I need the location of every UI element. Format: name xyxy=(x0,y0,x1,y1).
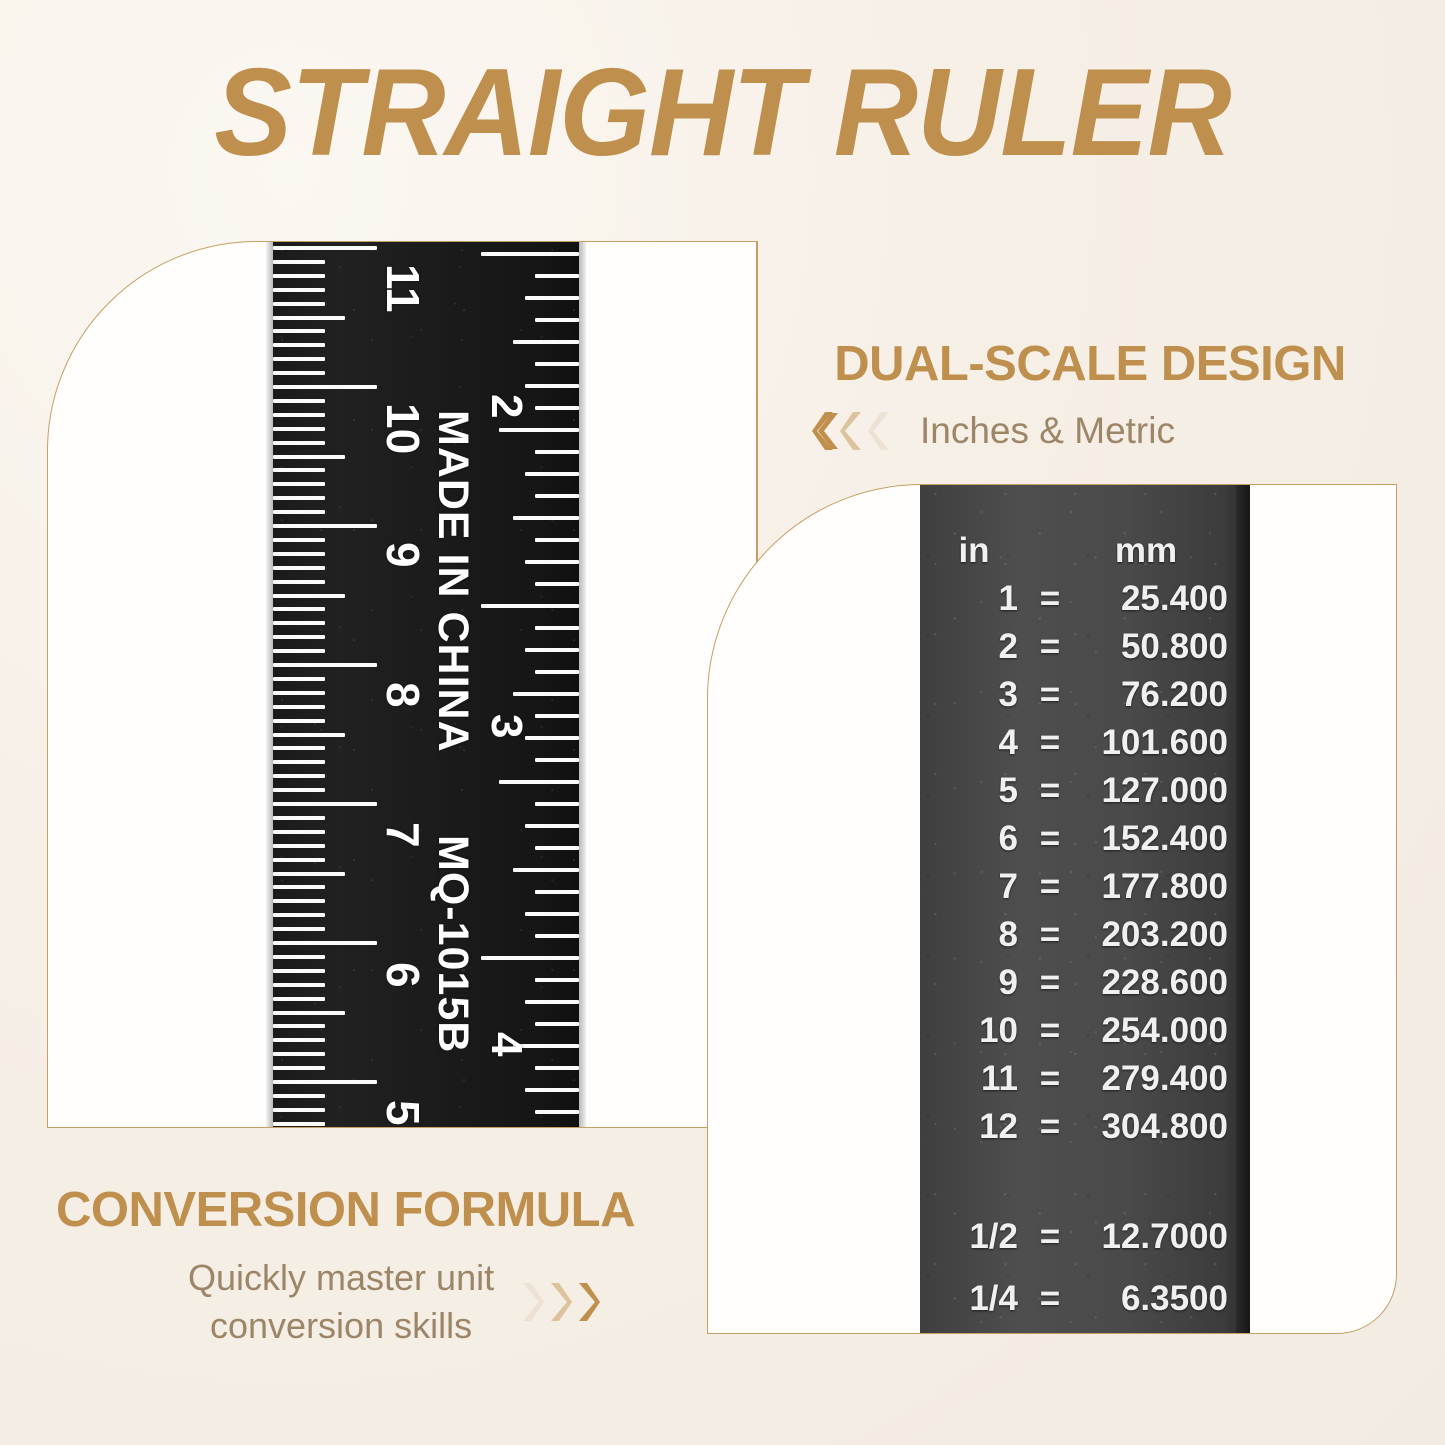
table-row: 9=228.600 xyxy=(920,965,1250,1013)
metric-tick xyxy=(273,913,325,917)
table-row: 2=50.800 xyxy=(920,629,1250,677)
metric-tick xyxy=(273,774,325,778)
metric-tick xyxy=(273,580,325,584)
chevron-left-icon xyxy=(812,410,838,452)
inch-tick xyxy=(535,1110,579,1114)
metric-tick xyxy=(273,969,325,973)
metric-tick xyxy=(273,329,325,333)
table-row: 1/2=12.7000 xyxy=(920,1219,1250,1281)
feature-conversion-formula: CONVERSION FORMULA Quickly master unit c… xyxy=(56,1182,716,1349)
metric-tick xyxy=(273,1108,325,1112)
inch-tick xyxy=(525,472,579,476)
cell-inches: 1/4 xyxy=(920,1281,1028,1316)
metric-tick xyxy=(273,607,325,611)
metric-tick xyxy=(273,343,325,347)
cell-inches: 4 xyxy=(920,725,1028,760)
ruler-origin-text: MADE IN CHINA xyxy=(431,410,474,753)
inch-tick xyxy=(535,846,579,850)
metric-number-7: 7 xyxy=(380,822,426,848)
page-title: STRAIGHT RULER xyxy=(43,48,1401,178)
inch-tick xyxy=(535,714,579,718)
grey-ruler-panel: inmm1=25.4002=50.8003=76.2004=101.6005=1… xyxy=(920,485,1250,1334)
cell-equals: = xyxy=(1028,1219,1072,1254)
feature-dual-scale: DUAL-SCALE DESIGN Inches & Metric xyxy=(790,336,1390,452)
cell-equals: = xyxy=(1028,917,1072,952)
chevron-right-icon xyxy=(574,1281,600,1323)
metric-tick xyxy=(273,677,325,681)
cell-inches: 1 xyxy=(920,581,1028,616)
inch-tick xyxy=(535,406,579,410)
metric-tick xyxy=(273,927,325,931)
metric-number-6: 6 xyxy=(380,962,426,988)
table-section-gap xyxy=(920,1157,1250,1219)
inch-tick xyxy=(513,340,579,344)
inch-number-3: 3 xyxy=(484,714,528,738)
metric-number-11: 11 xyxy=(380,264,426,313)
cell-inches: 3 xyxy=(920,677,1028,712)
cell-millimeters: 101.600 xyxy=(1072,725,1242,760)
metric-tick xyxy=(273,885,325,889)
cell-equals: = xyxy=(1028,725,1072,760)
inch-tick xyxy=(499,428,579,432)
metric-tick xyxy=(273,413,325,417)
inch-tick xyxy=(535,934,579,938)
metric-tick xyxy=(273,594,345,598)
metric-tick xyxy=(273,524,377,528)
metric-tick xyxy=(273,427,325,431)
metric-tick xyxy=(273,705,325,709)
metric-number-5: 5 xyxy=(380,1100,426,1126)
inch-tick xyxy=(535,450,579,454)
inch-number-2: 2 xyxy=(484,394,528,418)
chevron-left-group xyxy=(812,410,894,452)
metric-tick xyxy=(273,246,377,250)
inch-tick xyxy=(513,516,579,520)
metric-tick xyxy=(273,566,325,570)
chevron-left-icon xyxy=(868,410,894,452)
inch-tick xyxy=(525,1000,579,1004)
cell-inches: 10 xyxy=(920,1013,1028,1048)
metric-tick xyxy=(273,552,325,556)
metric-tick xyxy=(273,983,325,987)
cell-millimeters: 76.200 xyxy=(1072,677,1242,712)
inch-tick xyxy=(535,670,579,674)
table-row: 10=254.000 xyxy=(920,1013,1250,1061)
metric-tick xyxy=(273,844,325,848)
table-row: 3=76.200 xyxy=(920,677,1250,725)
dual-scale-subtext: Inches & Metric xyxy=(920,410,1175,452)
table-row: 5=127.000 xyxy=(920,773,1250,821)
metric-tick xyxy=(273,482,325,486)
cell-equals: = xyxy=(1028,965,1072,1000)
metric-tick xyxy=(273,649,325,653)
metric-tick xyxy=(273,663,377,667)
metric-tick xyxy=(273,441,325,445)
metric-tick xyxy=(273,746,325,750)
inch-tick xyxy=(513,692,579,696)
cell-millimeters: mm xyxy=(1072,533,1242,568)
cell-equals: = xyxy=(1028,581,1072,616)
inch-tick xyxy=(535,274,579,278)
inch-tick xyxy=(525,824,579,828)
metric-tick xyxy=(273,719,325,723)
chevron-right-group xyxy=(518,1281,600,1323)
table-row: 8=203.200 xyxy=(920,917,1250,965)
metric-tick xyxy=(273,496,325,500)
chevron-left-icon xyxy=(840,410,866,452)
cell-millimeters: 25.400 xyxy=(1072,581,1242,616)
cell-millimeters: 177.800 xyxy=(1072,869,1242,904)
cell-inches: 1/2 xyxy=(920,1219,1028,1254)
chevron-right-icon xyxy=(518,1281,544,1323)
inch-tick xyxy=(535,1022,579,1026)
inch-tick xyxy=(525,1088,579,1092)
cell-millimeters: 6.3500 xyxy=(1072,1281,1242,1316)
inch-tick xyxy=(535,978,579,982)
cell-equals: = xyxy=(1028,1109,1072,1144)
metric-tick xyxy=(273,274,325,278)
inch-tick xyxy=(535,802,579,806)
inch-tick xyxy=(535,318,579,322)
cell-inches: 5 xyxy=(920,773,1028,808)
cell-millimeters: 203.200 xyxy=(1072,917,1242,952)
inch-tick xyxy=(535,362,579,366)
metric-tick xyxy=(273,302,325,306)
cell-inches: 12 xyxy=(920,1109,1028,1144)
inch-tick-scale xyxy=(469,242,579,1128)
metric-tick xyxy=(273,733,345,737)
metric-tick xyxy=(273,802,377,806)
conversion-heading: CONVERSION FORMULA xyxy=(56,1182,716,1238)
table-row: 6=152.400 xyxy=(920,821,1250,869)
cell-equals: = xyxy=(1028,1061,1072,1096)
black-ruler-strip: 11 10 9 8 7 6 5 2 3 4 MADE IN CHINA MQ-1… xyxy=(266,242,586,1128)
metric-tick xyxy=(273,955,325,959)
cell-equals: = xyxy=(1028,629,1072,664)
conversion-subtext: Quickly master unit conversion skills xyxy=(188,1254,494,1349)
metric-tick xyxy=(273,385,377,389)
metric-tick xyxy=(273,1052,325,1056)
inch-tick xyxy=(513,868,579,872)
cell-millimeters: 304.800 xyxy=(1072,1109,1242,1144)
metric-tick xyxy=(273,538,325,542)
black-ruler-card: 11 10 9 8 7 6 5 2 3 4 MADE IN CHINA MQ-1… xyxy=(47,241,757,1128)
metric-tick xyxy=(273,816,325,820)
cell-equals: = xyxy=(1028,773,1072,808)
metric-tick xyxy=(273,1011,345,1015)
conversion-subtext-line1: Quickly master unit xyxy=(188,1254,494,1302)
metric-tick xyxy=(273,788,325,792)
metric-tick xyxy=(273,1024,325,1028)
table-row: 1=25.400 xyxy=(920,581,1250,629)
metric-tick xyxy=(273,357,325,361)
table-row: 12=304.800 xyxy=(920,1109,1250,1157)
metric-tick xyxy=(273,316,345,320)
cell-inches: 7 xyxy=(920,869,1028,904)
cell-millimeters: 279.400 xyxy=(1072,1061,1242,1096)
metric-tick xyxy=(273,1122,325,1126)
inch-tick xyxy=(481,252,579,256)
inch-tick xyxy=(535,626,579,630)
cell-millimeters: 228.600 xyxy=(1072,965,1242,1000)
cell-inches: 11 xyxy=(920,1061,1028,1096)
inch-tick xyxy=(525,296,579,300)
conversion-table-card: inmm1=25.4002=50.8003=76.2004=101.6005=1… xyxy=(707,484,1397,1334)
cell-equals: = xyxy=(1028,677,1072,712)
inch-tick xyxy=(481,956,579,960)
cell-inches: 9 xyxy=(920,965,1028,1000)
metric-tick xyxy=(273,288,325,292)
cell-inches: in xyxy=(920,533,1028,568)
conversion-subtext-line2: conversion skills xyxy=(188,1302,494,1350)
cell-inches: 2 xyxy=(920,629,1028,664)
metric-tick xyxy=(273,260,325,264)
cell-millimeters: 254.000 xyxy=(1072,1013,1242,1048)
inch-tick xyxy=(535,494,579,498)
inch-tick xyxy=(525,560,579,564)
metric-number-10: 10 xyxy=(380,403,426,454)
metric-tick xyxy=(273,371,325,375)
metric-tick xyxy=(273,468,325,472)
metric-tick xyxy=(273,510,325,514)
chevron-right-icon xyxy=(546,1281,572,1323)
metric-tick xyxy=(273,621,325,625)
metric-tick xyxy=(273,1038,325,1042)
inch-tick xyxy=(535,758,579,762)
inch-tick xyxy=(535,582,579,586)
metric-tick xyxy=(273,635,325,639)
inch-tick xyxy=(525,384,579,388)
cell-millimeters: 12.7000 xyxy=(1072,1219,1242,1254)
table-row: 11=279.400 xyxy=(920,1061,1250,1109)
inch-tick xyxy=(525,912,579,916)
cell-equals: = xyxy=(1028,1013,1072,1048)
metric-tick xyxy=(273,997,325,1001)
metric-number-9: 9 xyxy=(380,542,426,568)
table-row: 1/4=6.3500 xyxy=(920,1281,1250,1334)
metric-tick xyxy=(273,455,345,459)
metric-tick xyxy=(273,858,325,862)
cell-millimeters: 127.000 xyxy=(1072,773,1242,808)
metric-tick xyxy=(273,830,325,834)
metric-tick xyxy=(273,941,377,945)
dual-scale-heading: DUAL-SCALE DESIGN xyxy=(790,336,1390,392)
cell-equals: = xyxy=(1028,1281,1072,1316)
metric-tick xyxy=(273,1094,325,1098)
cell-millimeters: 50.800 xyxy=(1072,629,1242,664)
metric-number-8: 8 xyxy=(380,682,426,708)
metric-tick xyxy=(273,872,345,876)
table-row: 7=177.800 xyxy=(920,869,1250,917)
conversion-table: inmm1=25.4002=50.8003=76.2004=101.6005=1… xyxy=(920,533,1250,1334)
inch-tick xyxy=(535,1066,579,1070)
inch-tick xyxy=(535,538,579,542)
cell-inches: 8 xyxy=(920,917,1028,952)
cell-equals: = xyxy=(1028,821,1072,856)
cell-equals: = xyxy=(1028,869,1072,904)
inch-tick xyxy=(481,604,579,608)
table-row: inmm xyxy=(920,533,1250,581)
metric-tick xyxy=(273,1066,325,1070)
metric-tick xyxy=(273,899,325,903)
metric-tick xyxy=(273,691,325,695)
table-row: 4=101.600 xyxy=(920,725,1250,773)
cell-millimeters: 152.400 xyxy=(1072,821,1242,856)
metric-tick-scale xyxy=(273,242,393,1128)
cell-inches: 6 xyxy=(920,821,1028,856)
inch-tick xyxy=(535,890,579,894)
metric-tick xyxy=(273,1080,377,1084)
ruler-brand-text: MQ-1015B xyxy=(431,835,474,1053)
inch-tick xyxy=(499,780,579,784)
metric-tick xyxy=(273,399,325,403)
inch-tick xyxy=(525,736,579,740)
inch-number-4: 4 xyxy=(484,1032,528,1056)
inch-tick xyxy=(525,648,579,652)
metric-tick xyxy=(273,760,325,764)
